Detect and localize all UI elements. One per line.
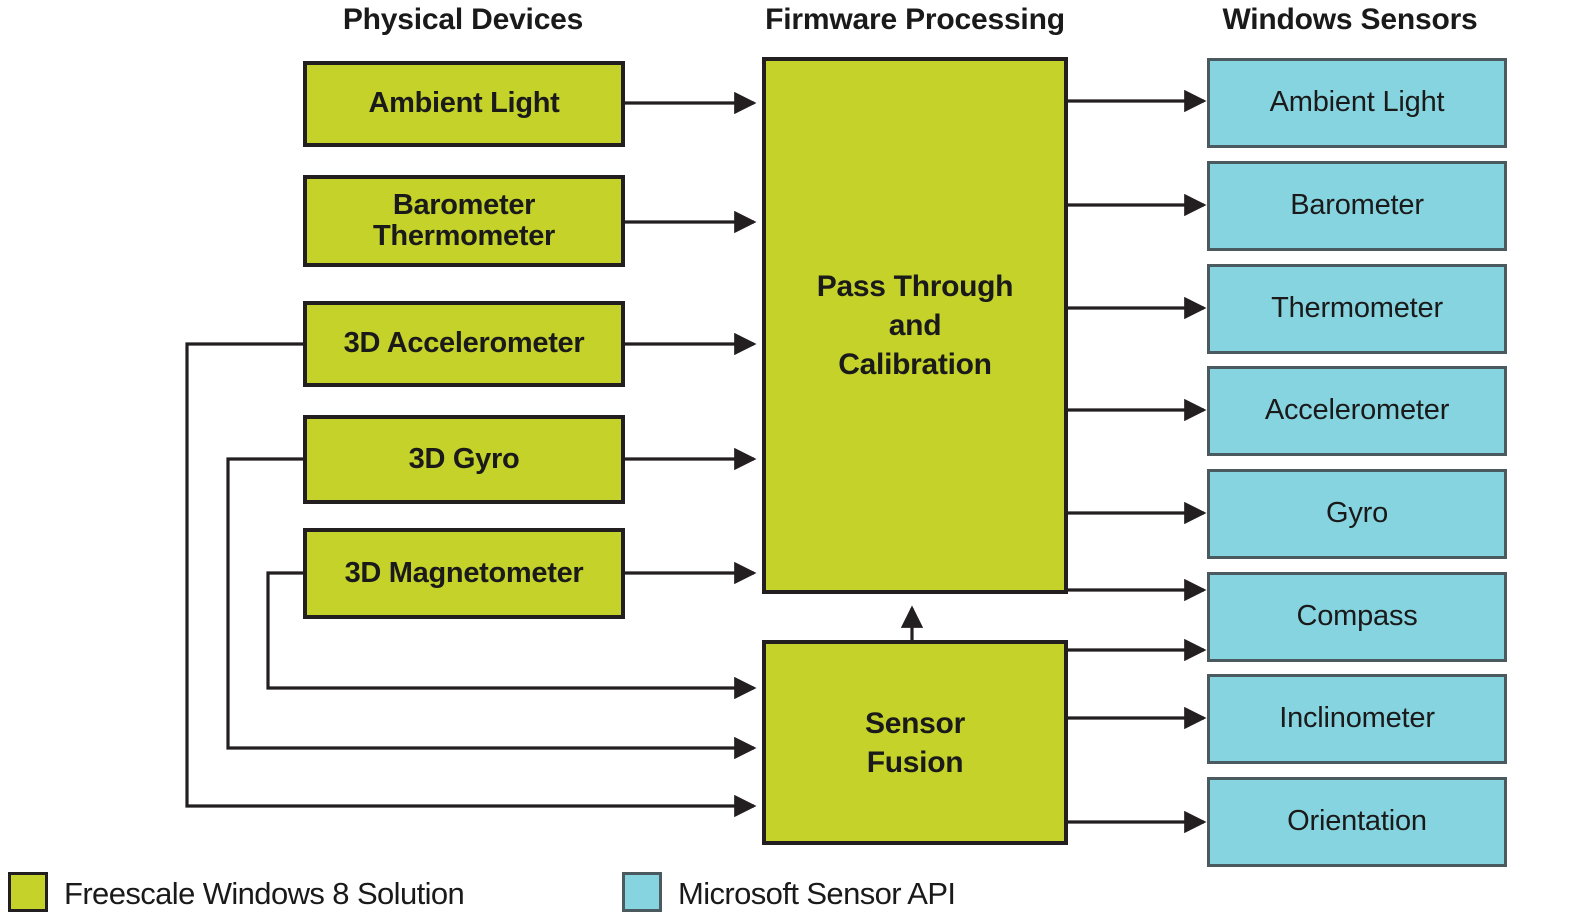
physical-device-3d-gyro[interactable]: 3D Gyro [303, 415, 625, 504]
windows-sensor-label: Barometer [1290, 190, 1424, 221]
windows-sensor-thermometer[interactable]: Thermometer [1207, 264, 1507, 354]
column-title-firmware-processing: Firmware Processing [735, 5, 1095, 35]
windows-sensor-label: Compass [1296, 601, 1417, 632]
windows-sensor-inclinometer[interactable]: Inclinometer [1207, 674, 1507, 764]
physical-device-3d-magnetometer[interactable]: 3D Magnetometer [303, 528, 625, 619]
windows-sensor-ambient-light[interactable]: Ambient Light [1207, 58, 1507, 148]
diagram-canvas: Physical Devices Firmware Processing Win… [0, 0, 1576, 918]
windows-sensor-compass[interactable]: Compass [1207, 572, 1507, 662]
firmware-block-sensor-fusion[interactable]: Sensor Fusion [762, 640, 1068, 845]
windows-sensor-label: Accelerometer [1265, 395, 1449, 426]
windows-sensor-barometer[interactable]: Barometer [1207, 161, 1507, 251]
legend-swatch-microsoft [622, 872, 662, 912]
legend-label-freescale: Freescale Windows 8 Solution [64, 878, 464, 909]
windows-sensor-orientation[interactable]: Orientation [1207, 777, 1507, 867]
physical-device-ambient-light[interactable]: Ambient Light [303, 61, 625, 147]
firmware-block-label: Sensor Fusion [865, 704, 965, 782]
column-title-windows-sensors: Windows Sensors [1180, 5, 1520, 35]
windows-sensor-label: Ambient Light [1270, 87, 1445, 118]
windows-sensor-gyro[interactable]: Gyro [1207, 469, 1507, 559]
legend-swatch-freescale [8, 872, 48, 912]
column-title-physical-devices: Physical Devices [283, 5, 643, 35]
windows-sensor-label: Inclinometer [1279, 703, 1435, 734]
physical-device-label: 3D Gyro [409, 444, 520, 475]
windows-sensor-label: Orientation [1287, 806, 1427, 837]
physical-device-label: 3D Magnetometer [345, 558, 584, 589]
physical-device-label: 3D Accelerometer [344, 328, 585, 359]
physical-device-label: Ambient Light [368, 88, 559, 119]
windows-sensor-label: Gyro [1326, 498, 1388, 529]
physical-device-label: Barometer Thermometer [373, 190, 555, 252]
windows-sensor-label: Thermometer [1271, 293, 1443, 324]
physical-device-barometer-thermometer[interactable]: Barometer Thermometer [303, 175, 625, 267]
windows-sensor-accelerometer[interactable]: Accelerometer [1207, 366, 1507, 456]
firmware-block-label: Pass Through and Calibration [817, 267, 1013, 384]
physical-device-3d-accelerometer[interactable]: 3D Accelerometer [303, 301, 625, 387]
legend-label-microsoft: Microsoft Sensor API [678, 878, 955, 909]
firmware-block-pass-through-and-calibration[interactable]: Pass Through and Calibration [762, 57, 1068, 594]
